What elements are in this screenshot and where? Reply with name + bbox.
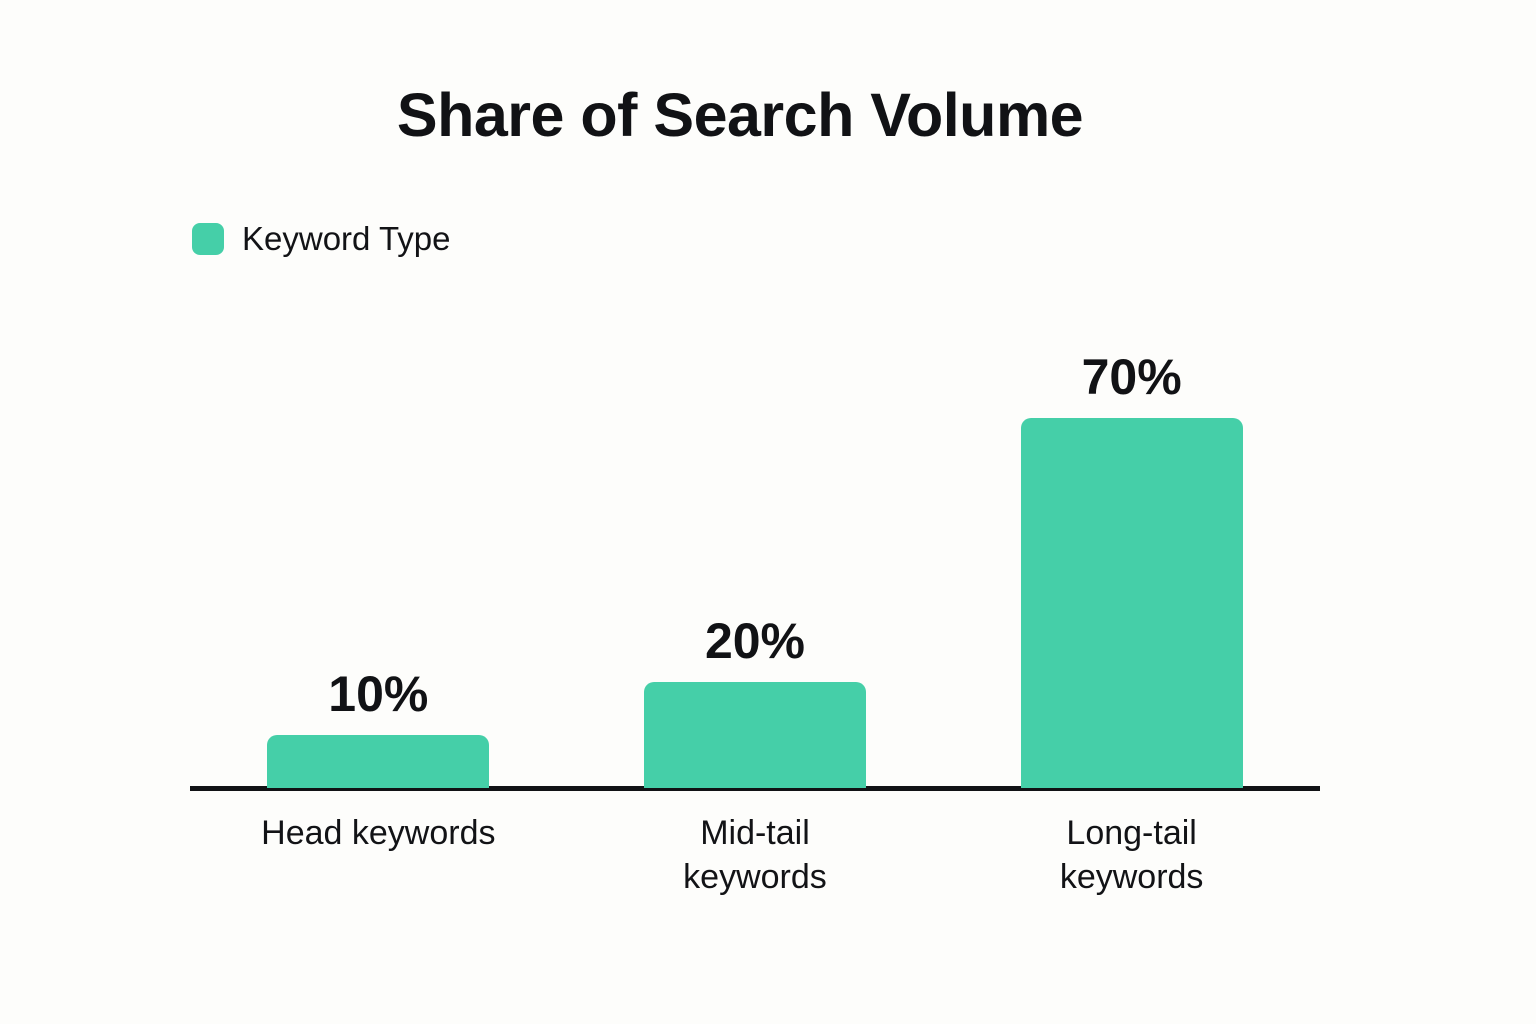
bar-slot-long-tail-keywords: 70% (965, 260, 1298, 788)
bar-slot-mid-tail-keywords: 20% (588, 260, 921, 788)
x-axis-tick-labels: Head keywords Mid-tail keywords Long-tai… (190, 812, 1320, 899)
x-tick-line: keywords (588, 856, 921, 900)
chart-legend: Keyword Type (192, 222, 451, 255)
bar-value-label: 70% (965, 352, 1298, 402)
x-tick-label-long-tail-keywords: Long-tail keywords (965, 812, 1298, 899)
bar-long-tail-keywords[interactable] (1021, 418, 1243, 788)
bar-value-label: 20% (588, 616, 921, 666)
x-tick-line: keywords (965, 856, 1298, 900)
x-tick-line: Mid-tail (588, 812, 921, 856)
legend-item-keyword-type[interactable]: Keyword Type (192, 222, 451, 255)
bar-head-keywords[interactable] (267, 735, 489, 788)
bar-slot-head-keywords: 10% (212, 260, 545, 788)
bar-mid-tail-keywords[interactable] (644, 682, 866, 788)
x-tick-line: Long-tail (965, 812, 1298, 856)
x-tick-line: Head keywords (212, 812, 545, 856)
bar-group: 10% 20% 70% (190, 260, 1320, 788)
plot-area: 10% 20% 70% (190, 260, 1320, 788)
bar-value-label: 10% (212, 669, 545, 719)
chart-figure: Share of Search Volume Keyword Type 10% … (0, 0, 1536, 1024)
legend-item-label: Keyword Type (242, 222, 451, 255)
legend-swatch-icon (192, 223, 224, 255)
x-tick-label-head-keywords: Head keywords (212, 812, 545, 899)
x-tick-label-mid-tail-keywords: Mid-tail keywords (588, 812, 921, 899)
chart-title: Share of Search Volume (0, 82, 1480, 149)
